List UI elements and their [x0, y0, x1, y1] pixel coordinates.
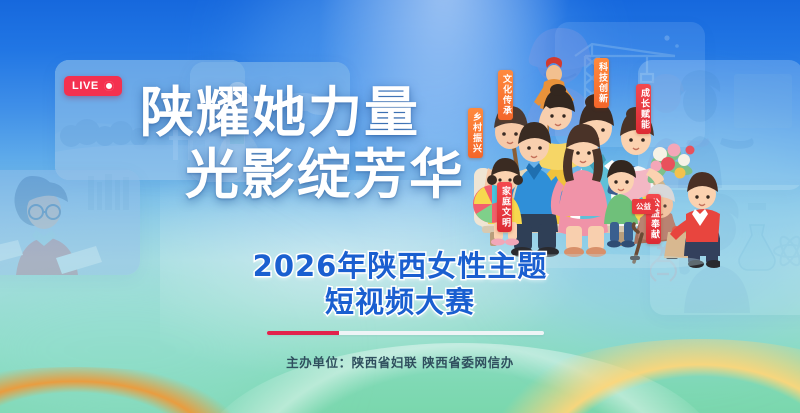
- theme-tag-family: 家庭文明: [497, 182, 512, 232]
- theme-tag-rural: 乡村振兴: [468, 108, 483, 158]
- title-line-1: 陕耀她力量: [0, 86, 520, 140]
- poster-title: 陕耀她力量 光影绽芳华: [0, 86, 520, 202]
- divider: [267, 331, 544, 335]
- organizer-text: 主办单位：陕西省妇联 陕西省委网信办: [0, 352, 800, 371]
- divider-accent: [267, 331, 339, 335]
- subtitle-line-2: 短视频大赛: [0, 284, 800, 320]
- family-and-women-illustration: [452, 18, 720, 268]
- campaign-poster: LIVE: [0, 0, 800, 413]
- subtitle-line-1: 2026年陕西女性主题: [0, 248, 800, 284]
- theme-tag-culture: 文化传承: [498, 70, 513, 120]
- theme-tag-technology: 科技创新: [594, 58, 609, 108]
- poster-subtitle: 2026年陕西女性主题 短视频大赛: [0, 248, 800, 321]
- title-line-2: 光影绽芳华: [0, 148, 520, 202]
- volunteer-sign: 公益: [632, 199, 655, 214]
- theme-tag-growth: 成长赋能: [636, 84, 651, 134]
